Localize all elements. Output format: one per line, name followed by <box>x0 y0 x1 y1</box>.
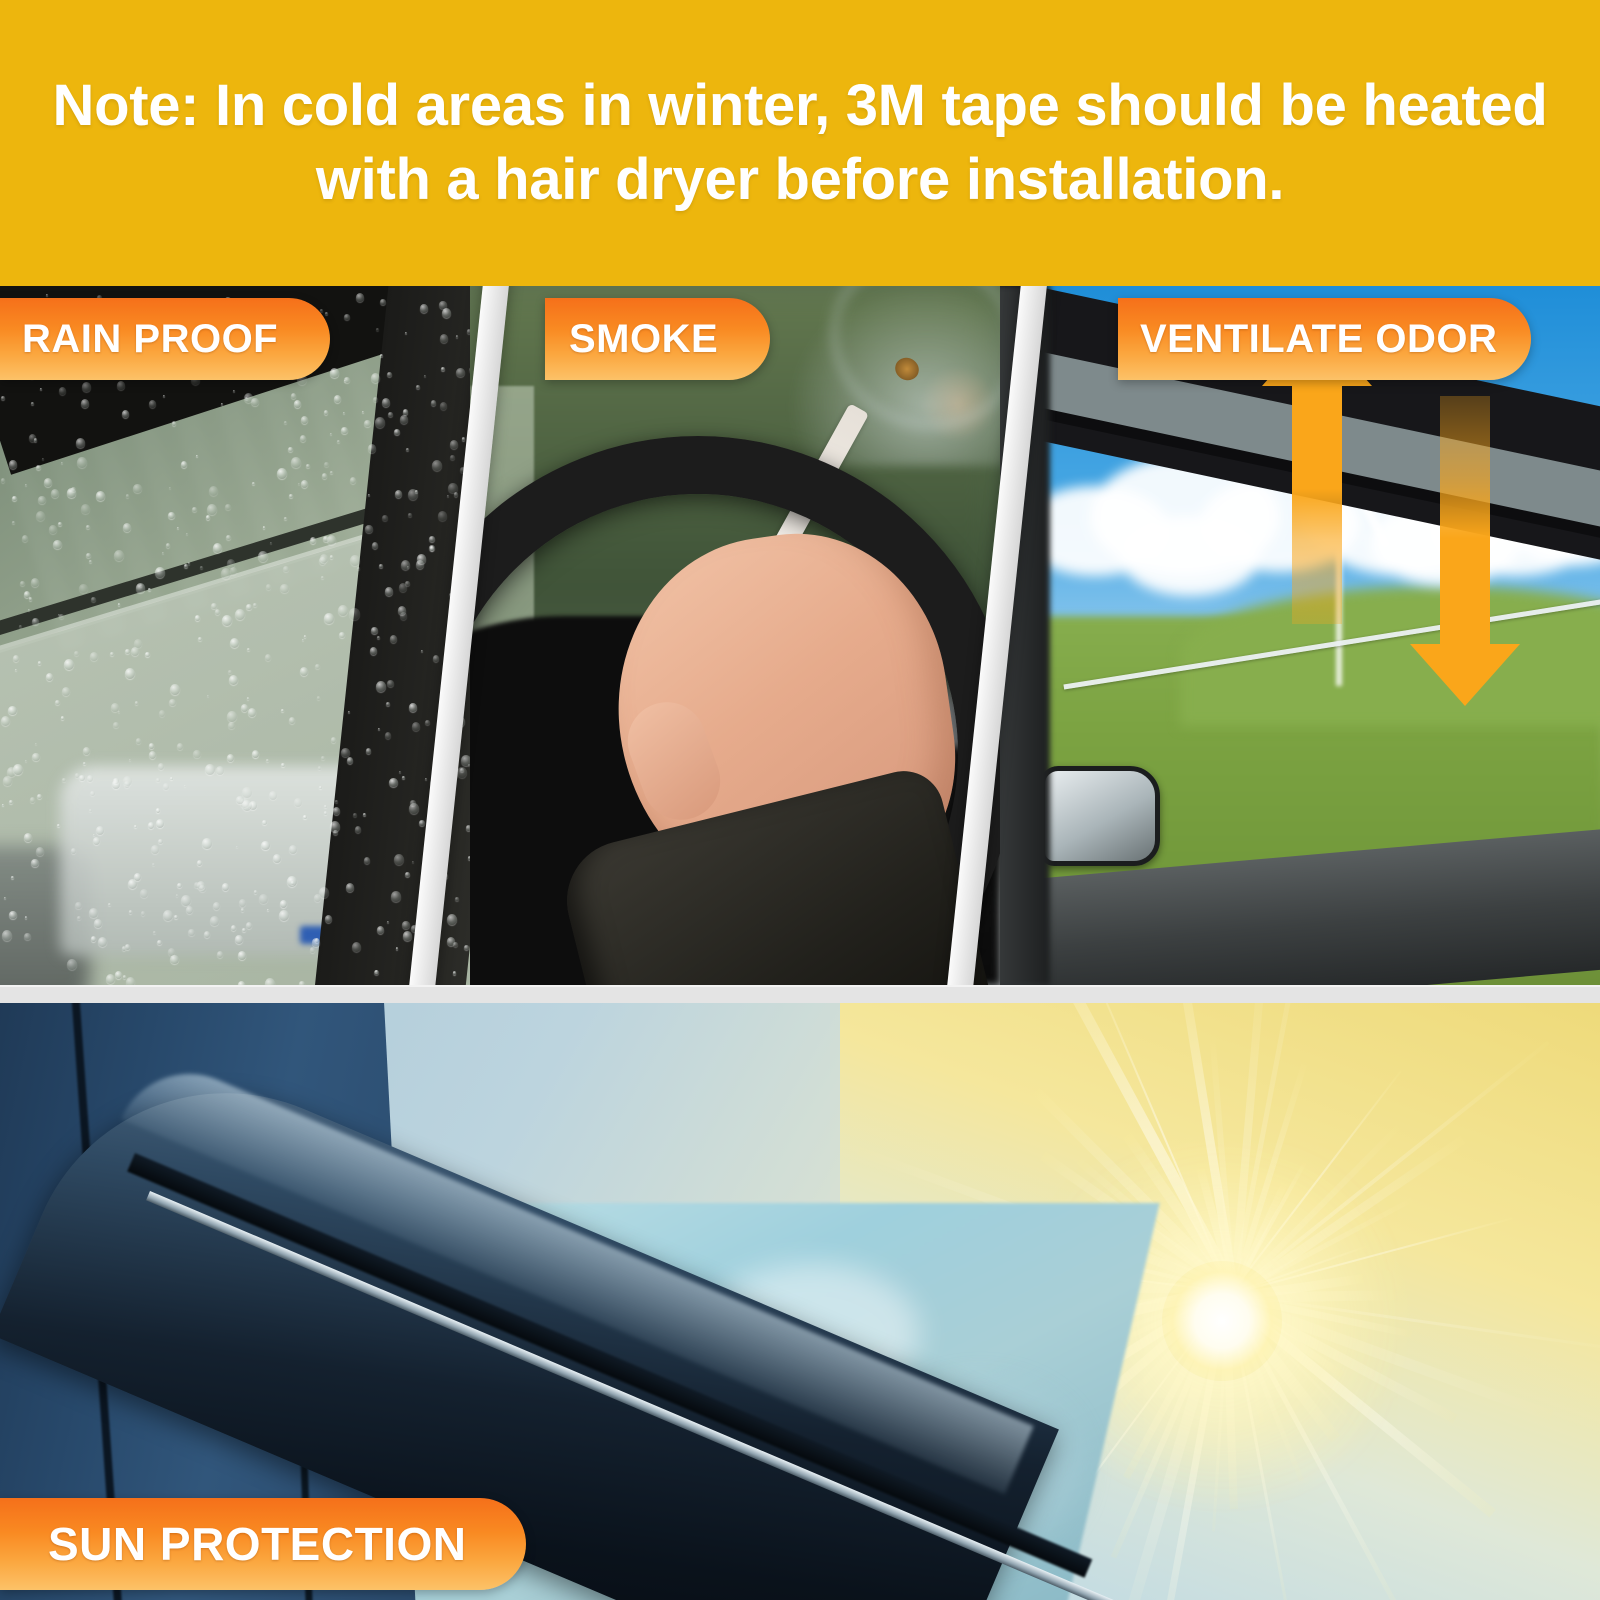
product-infographic: Note: In cold areas in winter, 3M tape s… <box>0 0 1600 1600</box>
sun-core <box>1162 1261 1282 1381</box>
badge-ventilate-odor-label: VENTILATE ODOR <box>1140 317 1497 362</box>
note-banner: Note: In cold areas in winter, 3M tape s… <box>0 0 1600 286</box>
row-divider <box>0 985 1600 1005</box>
airflow-down-arrow-icon <box>1410 396 1520 706</box>
side-mirror <box>1040 766 1160 866</box>
badge-sun-protection[interactable]: SUN PROTECTION <box>0 1498 526 1590</box>
panel-smoke <box>470 286 1000 985</box>
badge-ventilate-odor[interactable]: VENTILATE ODOR <box>1118 298 1531 380</box>
badge-sun-protection-label: SUN PROTECTION <box>48 1517 466 1571</box>
panel-rain-proof <box>0 286 470 985</box>
raindrop-icon <box>0 286 470 985</box>
note-text: Note: In cold areas in winter, 3M tape s… <box>34 69 1566 217</box>
badge-rain-proof[interactable]: RAIN PROOF <box>0 298 330 380</box>
badge-rain-proof-label: RAIN PROOF <box>22 317 278 362</box>
feature-row-top <box>0 286 1600 985</box>
badge-smoke[interactable]: SMOKE <box>545 298 770 380</box>
badge-smoke-label: SMOKE <box>569 317 718 362</box>
panel-ventilate-odor <box>1000 286 1600 985</box>
